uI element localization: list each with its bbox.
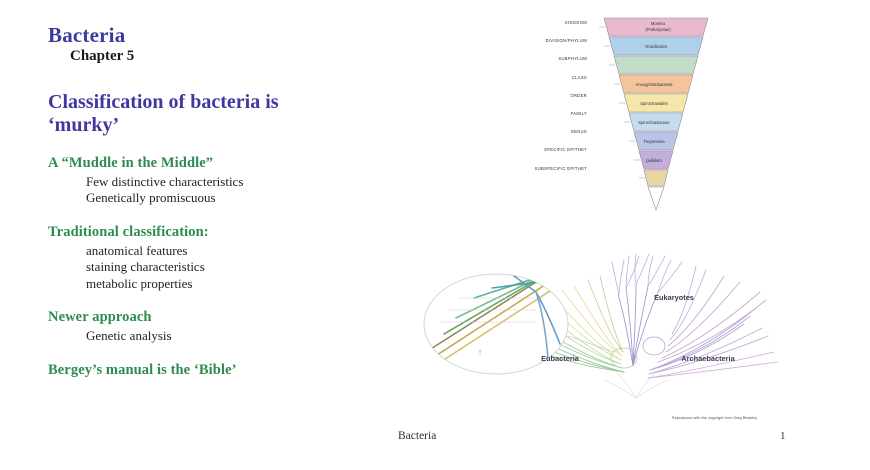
list-item: metabolic properties xyxy=(86,276,418,293)
tree-label-eubacteria: Eubacteria xyxy=(541,354,580,363)
section-heading: A “Muddle in the Middle” xyxy=(48,155,418,172)
band-label: pallidum xyxy=(646,158,662,163)
section-bergeys-manual: Bergey’s manual is the ‘Bible’ xyxy=(48,362,418,379)
list-item: Few distinctive characteristics xyxy=(86,174,418,191)
band-label: Monera xyxy=(651,21,666,26)
list-item: Genetic analysis xyxy=(86,328,418,345)
pyramid-band xyxy=(644,170,668,186)
tree-graphic: † Eukaryotes Eubacteria Archaebacteria xyxy=(418,248,858,410)
section-items: anatomical features staining characteris… xyxy=(48,243,418,293)
phylogenetic-tree-figure: † Eukaryotes Eubacteria Archaebacteria xyxy=(418,248,858,410)
rank-label: DIVISION/PHYLUM xyxy=(495,32,587,50)
taxonomic-rank-labels: KINGDOM DIVISION/PHYLUM SUBPHYLUM CLASS … xyxy=(495,14,587,178)
list-item: Genetically promiscuous xyxy=(86,190,418,207)
band-label: Treponema xyxy=(643,139,665,144)
rank-label: SUBPHYLUM xyxy=(495,50,587,68)
band-label: Anoxyphotobacteria xyxy=(635,82,673,87)
band-label: Gracilicutes xyxy=(645,44,667,49)
rank-label: FAMILY xyxy=(495,105,587,123)
tree-label-eukaryotes: Eukaryotes xyxy=(654,293,694,302)
section-traditional-classification: Traditional classification: anatomical f… xyxy=(48,224,418,293)
inset-marker: † xyxy=(478,350,481,356)
rank-label: SUBSPECIFIC EPITHET xyxy=(495,160,587,178)
rank-label: SPECIFIC EPITHET xyxy=(495,141,587,159)
rank-label: KINGDOM xyxy=(495,14,587,32)
section-items: Few distinctive characteristics Genetica… xyxy=(48,174,418,207)
section-heading: Newer approach xyxy=(48,309,418,326)
slide-canvas: Bacteria Chapter 5 Classification of bac… xyxy=(0,0,870,470)
section-heading: Traditional classification: xyxy=(48,224,418,241)
section-items: Genetic analysis xyxy=(48,328,418,345)
page-number: 1 xyxy=(780,430,786,442)
section-heading: Bergey’s manual is the ‘Bible’ xyxy=(48,362,418,379)
chapter-label: Chapter 5 xyxy=(70,49,418,65)
footer-credit: Reproduced with the copyright from Greg … xyxy=(672,416,804,420)
band-label: Spirochaetales xyxy=(640,101,668,106)
section-muddle: A “Muddle in the Middle” Few distinctive… xyxy=(48,155,418,207)
rank-label: ORDER xyxy=(495,87,587,105)
footer-title: Bacteria xyxy=(398,430,436,442)
page-title: Bacteria xyxy=(48,24,418,46)
tree-label-archaebacteria: Archaebacteria xyxy=(681,354,735,363)
section-newer-approach: Newer approach Genetic analysis xyxy=(48,309,418,344)
taxonomic-pyramid-figure: KINGDOM DIVISION/PHYLUM SUBPHYLUM CLASS … xyxy=(495,14,725,214)
rank-label: CLASS xyxy=(495,69,587,87)
band-label: Spirochaetaceae xyxy=(638,120,670,125)
rank-label: GENUS xyxy=(495,123,587,141)
list-item: staining characteristics xyxy=(86,259,418,276)
pyramid-tip xyxy=(648,187,664,210)
band-label: (Prokaryotae) xyxy=(645,27,671,32)
list-item: anatomical features xyxy=(86,243,418,260)
pyramid-band xyxy=(614,56,698,74)
slide-text-column: Bacteria Chapter 5 Classification of bac… xyxy=(48,24,418,378)
slide-heading: Classification of bacteria is ‘murky’ xyxy=(48,91,348,138)
pyramid-graphic: Monera (Prokaryotae) Gracilicutes Anoxyp… xyxy=(590,14,718,214)
